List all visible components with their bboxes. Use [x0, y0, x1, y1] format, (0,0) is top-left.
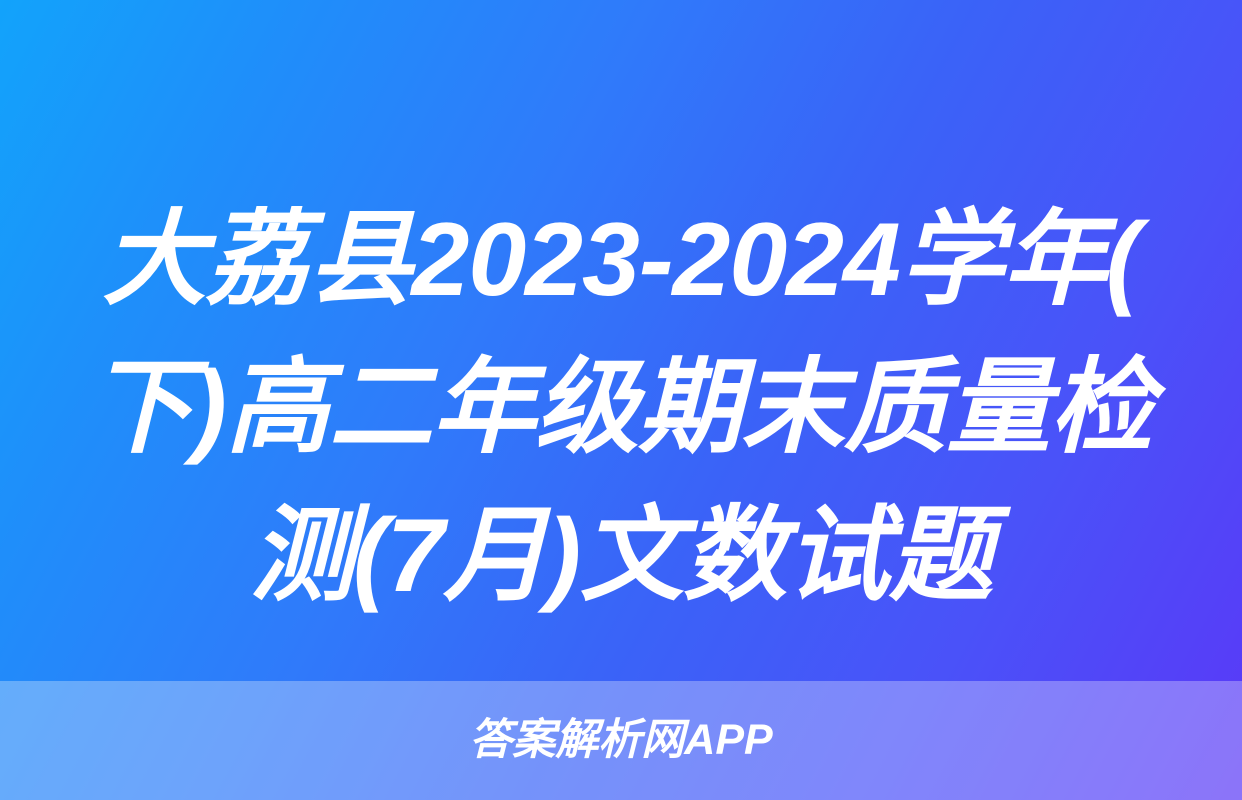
title-card: 大荔县2023-2024学年( 下)高二年级期末质量检 测(7月)文数试题 答案…	[0, 0, 1242, 800]
title-line-2: 下)高二年级期末质量检	[40, 334, 1202, 482]
watermark-label: 答案解析网APP	[469, 719, 772, 762]
page-title: 大荔县2023-2024学年( 下)高二年级期末质量检 测(7月)文数试题	[0, 186, 1242, 630]
watermark-band: 答案解析网APP	[0, 681, 1242, 800]
title-line-3: 测(7月)文数试题	[40, 482, 1202, 630]
title-line-1: 大荔县2023-2024学年(	[40, 186, 1202, 334]
